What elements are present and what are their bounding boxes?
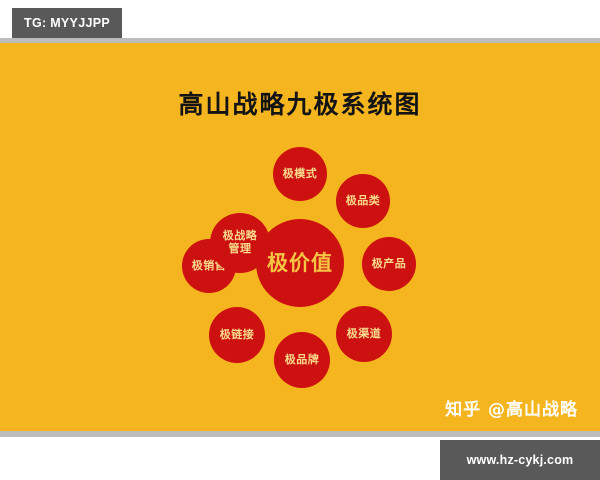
node-satellite-6[interactable]: 极链接 bbox=[209, 307, 265, 363]
node-center-core[interactable]: 极价值 bbox=[256, 219, 344, 307]
node-label: 极品牌 bbox=[281, 354, 324, 367]
node-satellite-4[interactable]: 极渠道 bbox=[336, 306, 392, 362]
website-url-label: www.hz-cykj.com bbox=[467, 453, 574, 467]
node-label: 极模式 bbox=[279, 168, 322, 181]
node-label: 极渠道 bbox=[343, 328, 386, 341]
node-label: 极链接 bbox=[216, 329, 259, 342]
node-satellite-1[interactable]: 极模式 bbox=[273, 147, 327, 201]
node-satellite-3[interactable]: 极产品 bbox=[362, 237, 416, 291]
node-label: 极战略管理 bbox=[219, 230, 262, 255]
node-label: 极价值 bbox=[263, 251, 337, 275]
nine-pole-system-diagram: 极模式极品类极产品极渠道极品牌极链接极销售极战略管理极价值 bbox=[0, 43, 600, 431]
node-satellite-2[interactable]: 极品类 bbox=[336, 174, 390, 228]
node-label: 极产品 bbox=[368, 258, 411, 271]
zhihu-attribution: 知乎 @高山战略 bbox=[445, 395, 578, 420]
node-satellite-5[interactable]: 极品牌 bbox=[274, 332, 330, 388]
node-label: 极品类 bbox=[342, 195, 385, 208]
telegram-watermark-badge: TG: MYYJJPP bbox=[12, 8, 122, 38]
divider-bottom bbox=[0, 431, 600, 437]
website-url-bar[interactable]: www.hz-cykj.com bbox=[440, 440, 600, 480]
telegram-watermark-label: TG: MYYJJPP bbox=[24, 16, 110, 30]
yellow-poster-panel: 高山战略九极系统图 极模式极品类极产品极渠道极品牌极链接极销售极战略管理极价值 … bbox=[0, 43, 600, 431]
poster-canvas: TG: MYYJJPP 高山战略九极系统图 极模式极品类极产品极渠道极品牌极链接… bbox=[0, 0, 600, 480]
